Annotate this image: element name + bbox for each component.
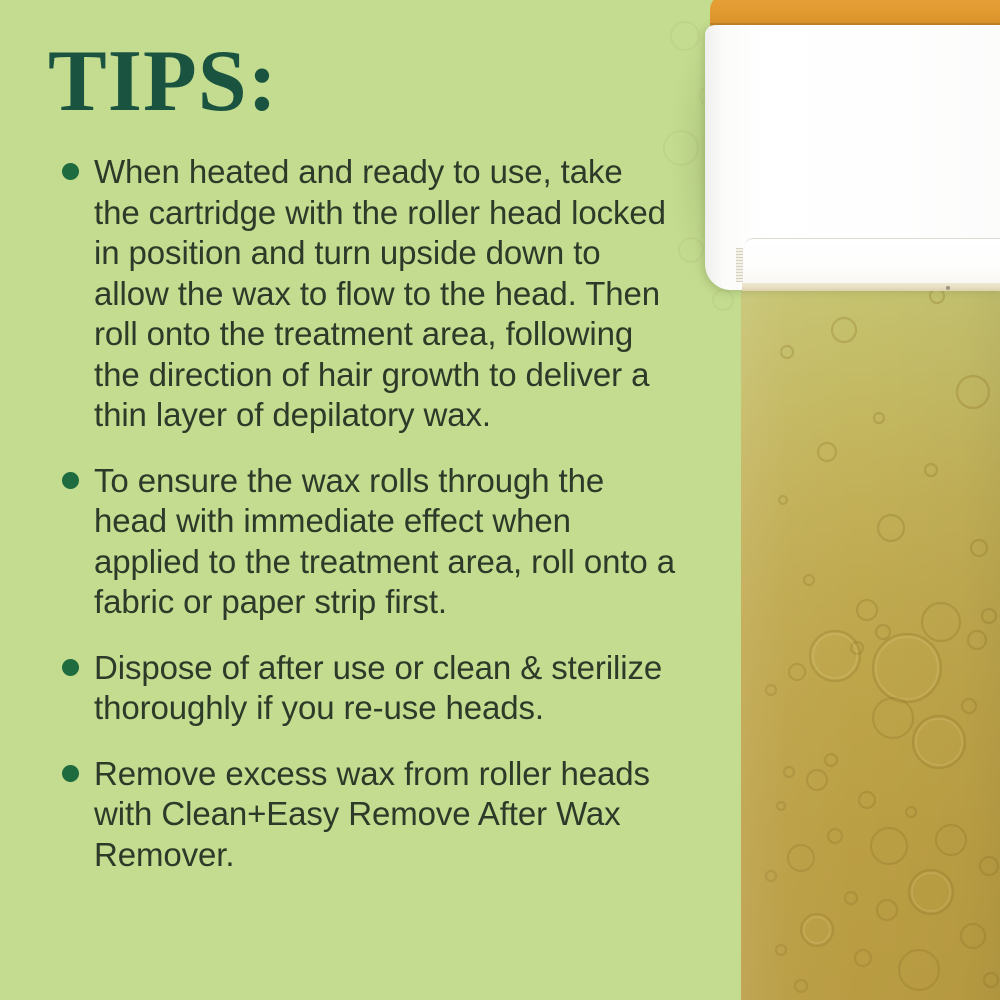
list-item: Remove excess wax from roller heads with… <box>56 754 676 876</box>
tip-text: When heated and ready to use, take the c… <box>94 152 676 436</box>
bullet-dot-icon <box>62 472 79 489</box>
list-item: When heated and ready to use, take the c… <box>56 152 676 436</box>
list-item: Dispose of after use or clean & steriliz… <box>56 648 676 729</box>
tips-content: TIPS: When heated and ready to use, take… <box>0 0 700 1000</box>
cartridge-label-foot-edge <box>742 283 1000 291</box>
cartridge-label-dot <box>946 286 950 290</box>
cartridge-label-lower-band <box>744 238 1000 289</box>
tips-infographic: TIPS: When heated and ready to use, take… <box>0 0 1000 1000</box>
bullet-dot-icon <box>62 659 79 676</box>
bullet-dot-icon <box>62 163 79 180</box>
list-item: To ensure the wax rolls through the head… <box>56 461 676 623</box>
tip-text: To ensure the wax rolls through the head… <box>94 461 676 623</box>
cartridge-cap <box>710 0 1000 26</box>
tip-text: Dispose of after use or clean & steriliz… <box>94 648 676 729</box>
tip-text: Remove excess wax from roller heads with… <box>94 754 676 876</box>
tips-list: When heated and ready to use, take the c… <box>56 152 676 875</box>
bullet-dot-icon <box>62 765 79 782</box>
cartridge-ridge-detail <box>736 248 743 282</box>
page-title: TIPS: <box>48 38 278 126</box>
